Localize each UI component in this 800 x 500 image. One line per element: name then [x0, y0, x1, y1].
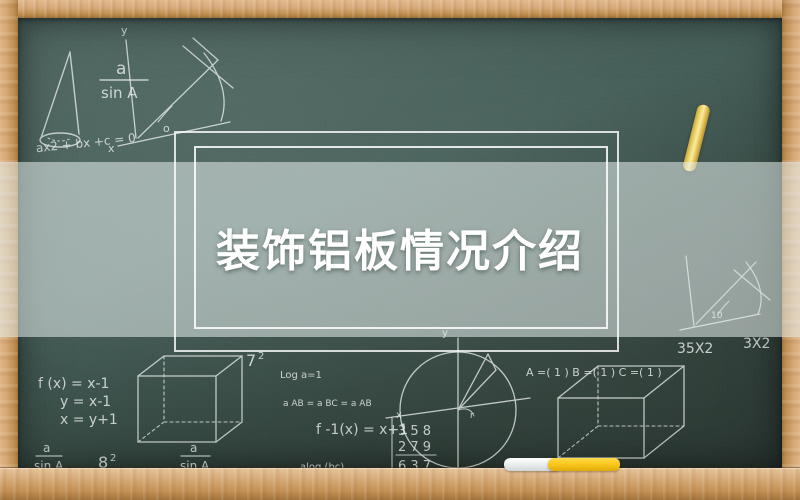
poster-canvas: a sin A ax2 + bx +c = 0 y x: [0, 0, 800, 500]
chalk-text-35x2: 35X2: [677, 341, 713, 357]
chalk-tray: [0, 468, 800, 500]
chalk-angle-o-left: o: [163, 122, 170, 135]
chalk-angle-10: 10: [711, 311, 723, 321]
chalk-exp-7-sup: 2: [258, 351, 264, 362]
chalk-fn-2: y = x-1: [60, 394, 111, 410]
chalk-frac-bl-num: a: [43, 441, 50, 455]
chalk-angle-sphere: r: [470, 411, 474, 421]
chalk-set-expression: a AB = a BC = a AB: [283, 399, 372, 409]
chalk-text-3x2: 3X2: [743, 336, 770, 352]
chalk-axis-x-left: x: [108, 142, 115, 155]
chalk-fn-3: x = y+1: [60, 412, 118, 428]
chalk-exp-8-sup: 2: [110, 453, 116, 464]
chalk-text-quadratic: ax2 + bx +c = 0: [35, 131, 136, 155]
chalk-axis-y-left: y: [121, 24, 128, 37]
yellow-chalk-tray: [548, 458, 620, 471]
chalk-text-sinA: sin A: [101, 84, 138, 102]
chalk-log-note: Log a=1: [280, 370, 322, 381]
chalk-div-rule: [392, 418, 436, 468]
chalk-frac-bm-num: a: [190, 441, 197, 455]
chalk-sphere-diagram: [386, 338, 530, 468]
poster-title: 装饰铝板情况介绍: [0, 215, 800, 279]
chalk-inverse-fn: f -1(x) = x+1: [316, 422, 408, 438]
chalk-cube-left: [138, 356, 242, 442]
chalk-div-1: 3 5 8: [398, 424, 431, 439]
chalk-fn-1: f (x) = x-1: [38, 376, 109, 392]
chalk-exp-7: 7: [246, 351, 256, 370]
chalk-axis-x-right: x: [396, 410, 402, 421]
chalk-div-2: 2 7 9: [398, 440, 431, 455]
wood-frame-top: [0, 0, 800, 18]
chalk-matrix-note: A =( 1 ) B =( 1 ) C =( 1 ): [526, 366, 662, 379]
chalk-cube-right: [558, 366, 684, 458]
chalk-text-a: a: [116, 59, 126, 79]
yellow-chalk-stick: [682, 103, 711, 172]
chalk-exp-8: 8: [98, 453, 108, 468]
chalk-angle-diagram-left: [118, 38, 233, 146]
chalk-cone: [40, 52, 80, 147]
